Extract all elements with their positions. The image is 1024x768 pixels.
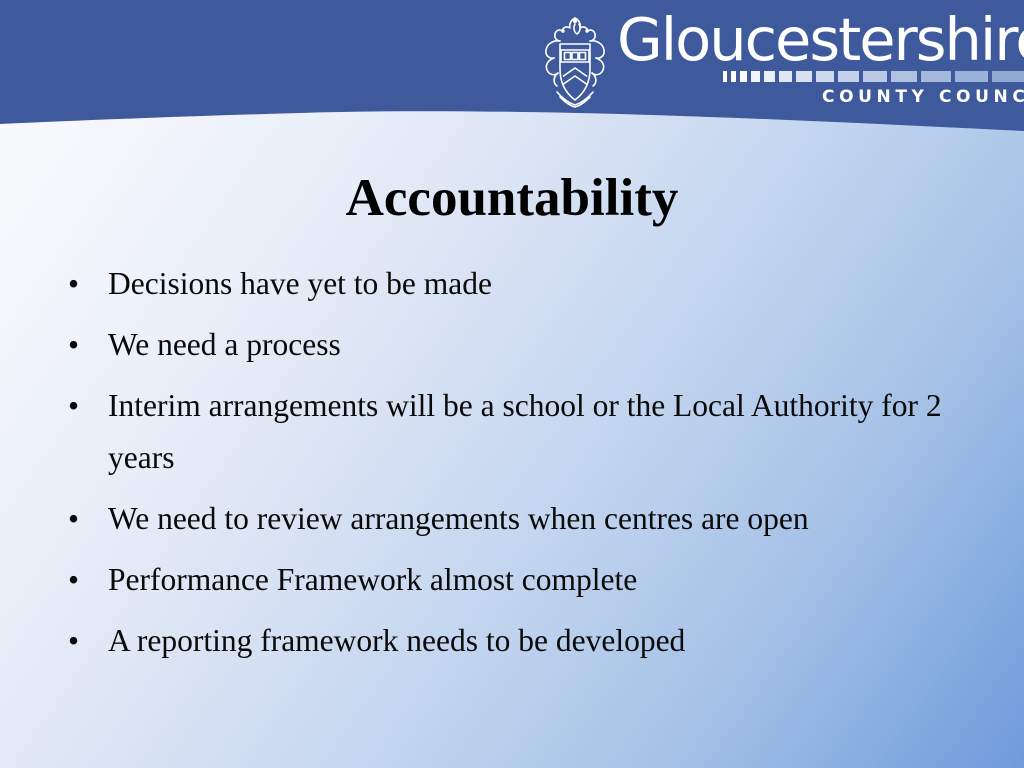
wordmark: Gloucestershire COUNTY COUNCIL	[617, 8, 1013, 112]
list-item: • Interim arrangements will be a school …	[62, 380, 962, 484]
bullet-marker-icon: •	[68, 258, 86, 310]
list-item-label: Performance Framework almost complete	[108, 554, 962, 606]
bullet-marker-icon: •	[68, 380, 86, 432]
list-item-label: A reporting framework needs to be develo…	[108, 615, 962, 667]
bullet-list: • Decisions have yet to be made • We nee…	[62, 258, 962, 676]
list-item: • We need to review arrangements when ce…	[62, 493, 962, 545]
logo-subtitle: COUNTY COUNCIL	[822, 87, 1024, 107]
bullet-marker-icon: •	[68, 319, 86, 371]
bullet-marker-icon: •	[68, 493, 86, 545]
list-item-label: We need to review arrangements when cent…	[108, 493, 962, 545]
bullet-marker-icon: •	[68, 615, 86, 667]
logo-dash-rule	[723, 71, 1024, 82]
list-item: • Performance Framework almost complete	[62, 554, 962, 606]
list-item: • We need a process	[62, 319, 962, 371]
presentation-slide: Gloucestershire COUNTY COUNCIL	[0, 0, 1024, 768]
list-item-label: We need a process	[108, 319, 962, 371]
list-item: • A reporting framework needs to be deve…	[62, 615, 962, 667]
bullet-marker-icon: •	[68, 554, 86, 606]
list-item-label: Decisions have yet to be made	[108, 258, 962, 310]
list-item: • Decisions have yet to be made	[62, 258, 962, 310]
list-item-label: Interim arrangements will be a school or…	[108, 380, 962, 484]
gloucestershire-county-council-logo: Gloucestershire COUNTY COUNCIL	[533, 8, 1013, 112]
organisation-name: Gloucestershire	[617, 9, 1024, 71]
page-title: Accountability	[0, 168, 1024, 228]
coat-of-arms-crest-icon	[533, 14, 617, 110]
